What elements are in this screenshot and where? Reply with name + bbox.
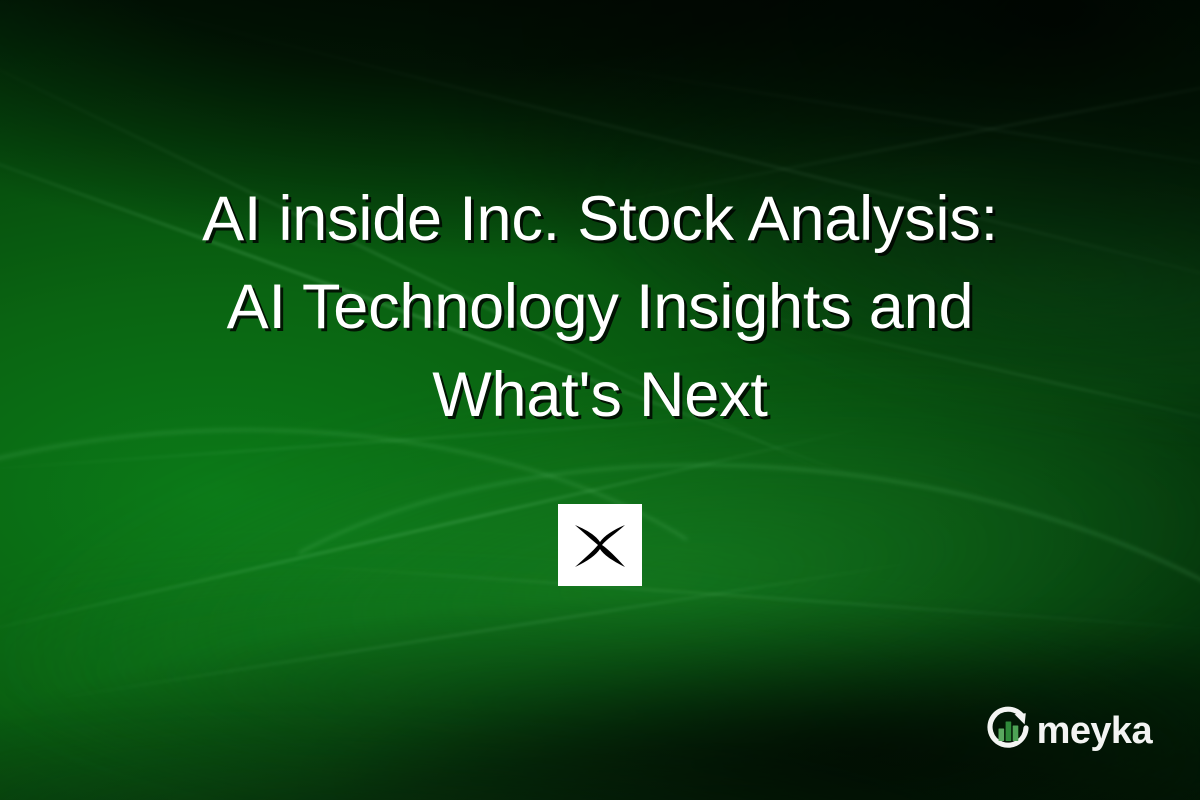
page-title: AI inside Inc. Stock Analysis: AI Techno…: [0, 175, 1200, 439]
meyka-wordmark: meyka: [1037, 712, 1152, 750]
meyka-circle-bars-logo-icon: [983, 703, 1033, 758]
title-line-2: AI Technology Insights and: [70, 263, 1130, 351]
light-streak-5: [560, 60, 1200, 181]
x-star-logo-icon: [569, 514, 631, 576]
title-line-1: AI inside Inc. Stock Analysis:: [70, 175, 1130, 263]
company-logo-tile: [558, 504, 642, 586]
light-arc-3: [0, 398, 852, 800]
title-line-3: What's Next: [70, 351, 1130, 439]
flow-band-shadow: [111, 548, 1200, 800]
light-streak-6: [0, 424, 876, 642]
light-streak-8: [240, 560, 1200, 632]
social-share-card: AI inside Inc. Stock Analysis: AI Techno…: [0, 0, 1200, 800]
light-streak-7: [40, 559, 929, 702]
meyka-brand-logo: meyka: [983, 703, 1152, 758]
